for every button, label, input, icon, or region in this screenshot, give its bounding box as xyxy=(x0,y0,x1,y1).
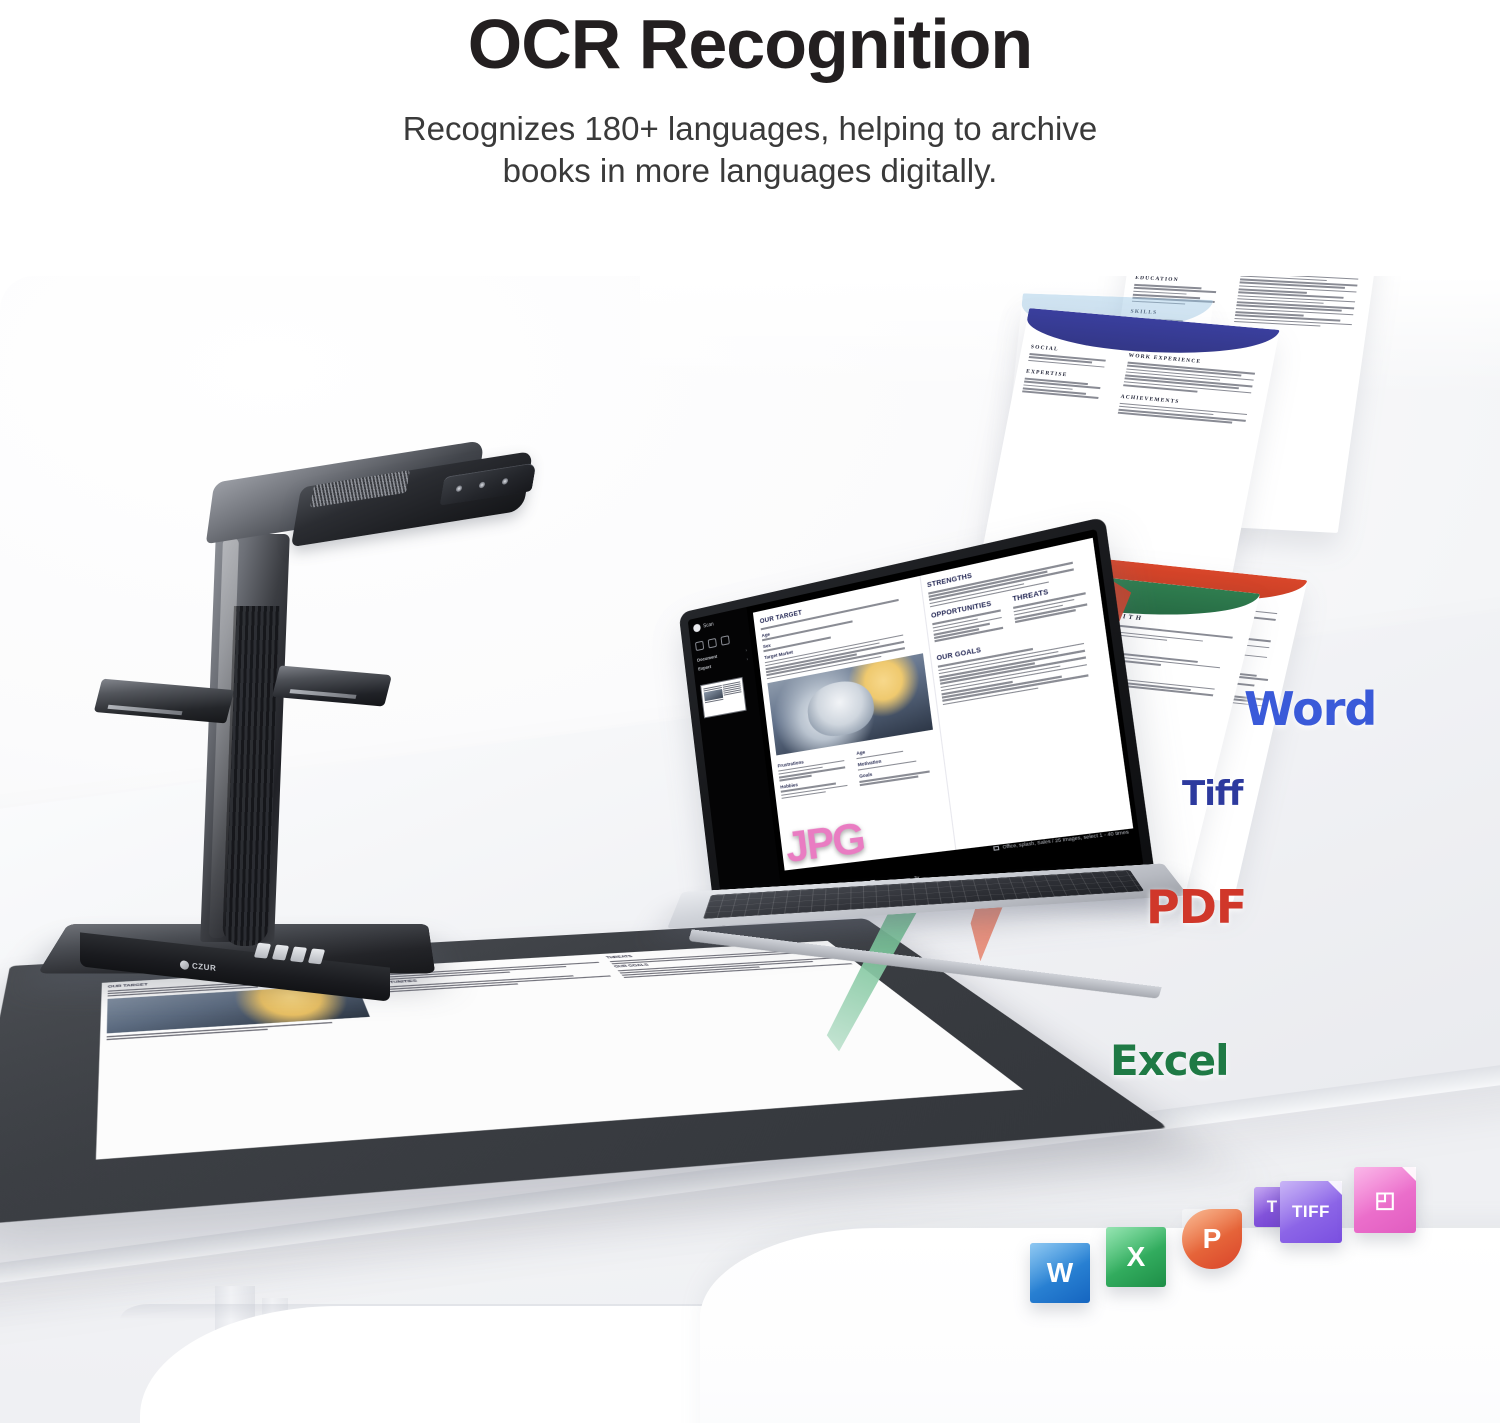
foreground-white-curve xyxy=(700,1228,1500,1423)
app-brand-label: Scan xyxy=(703,621,714,629)
laptop-screen: Scan Document › Export xyxy=(688,529,1144,913)
edit-tool-icon[interactable] xyxy=(720,635,729,646)
document-scanner: CZUR xyxy=(60,446,580,1026)
format-label-tiff: Tiff xyxy=(1182,774,1242,814)
indicator-dot-icon xyxy=(455,485,462,492)
grid-tool-icon[interactable] xyxy=(708,638,717,649)
subtitle-line-1: Recognizes 180+ languages, helping to ar… xyxy=(403,110,1097,147)
chevron-right-icon: › xyxy=(745,648,747,653)
document-viewer[interactable]: OUR TARGET Age Sex Target Market xyxy=(746,529,1143,907)
indicator-dot-icon xyxy=(501,478,508,485)
page-subtitle: Recognizes 180+ languages, helping to ar… xyxy=(285,82,1215,194)
sidebar-item-label: Export xyxy=(698,664,712,672)
page-icon xyxy=(993,845,999,850)
page-thumbnail[interactable] xyxy=(700,677,746,719)
page-column-right: STRENGTHS OPPORTUNITIES xyxy=(919,538,1133,850)
scanner-right-led-wing xyxy=(272,665,392,706)
scanner-button[interactable] xyxy=(290,946,307,962)
image-file-icon[interactable]: ◰ xyxy=(1354,1167,1416,1233)
word-file-icon[interactable]: W xyxy=(1030,1243,1090,1303)
header: OCR Recognition Recognizes 180+ language… xyxy=(0,0,1500,193)
format-label-word: Word xyxy=(1244,682,1376,736)
scanner-button[interactable] xyxy=(254,943,271,959)
indicator-dot-icon xyxy=(478,481,485,488)
app-logo-icon xyxy=(693,623,701,632)
chevron-right-icon: › xyxy=(746,657,748,662)
subtitle-line-2: books in more languages digitally. xyxy=(503,152,998,189)
format-label-excel: Excel xyxy=(1110,1036,1229,1085)
excel-file-icon[interactable]: X xyxy=(1106,1227,1166,1287)
powerpoint-file-icon[interactable]: P xyxy=(1182,1209,1242,1269)
app-brand: Scan xyxy=(693,614,744,633)
product-scene: OUR TARGET STRENGTHS OPPORTUNITIES THREA… xyxy=(0,276,1500,1423)
product-feature-image: OCR Recognition Recognizes 180+ language… xyxy=(0,0,1500,1423)
sidebar-item-label: Document xyxy=(697,654,718,663)
format-label-pdf: PDF xyxy=(1146,880,1246,934)
crop-tool-icon[interactable] xyxy=(695,641,704,651)
laptop-lid: Scan Document › Export xyxy=(679,517,1156,926)
tiff-file-icon[interactable]: TIFF xyxy=(1280,1181,1342,1243)
format-label-jpg: JPG xyxy=(783,816,866,869)
brand-logo-icon xyxy=(180,960,189,970)
page-title: OCR Recognition xyxy=(0,0,1500,82)
scanner-button[interactable] xyxy=(272,945,289,961)
